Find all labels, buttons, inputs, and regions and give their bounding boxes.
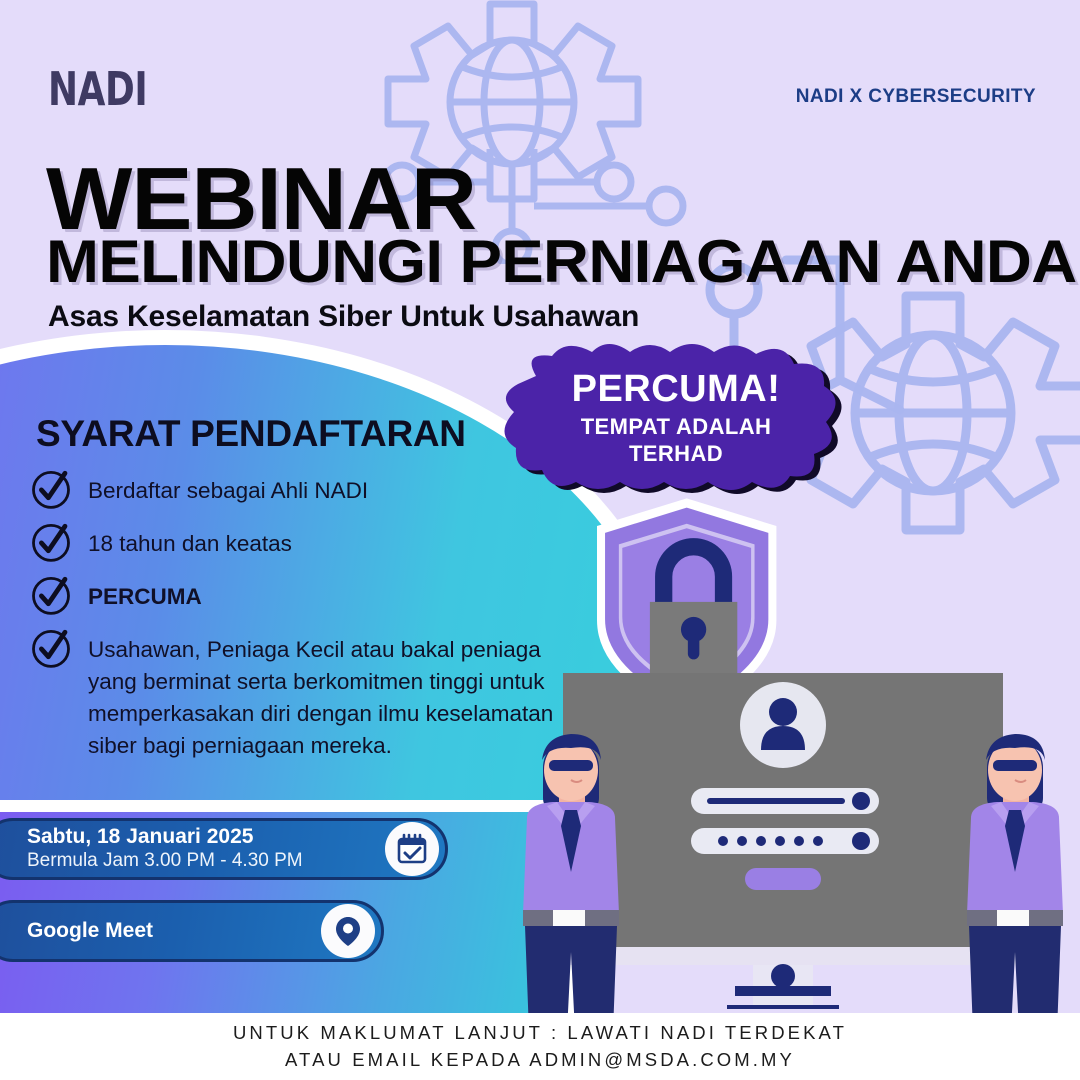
check-circle-icon <box>30 521 72 563</box>
event-date-label: Sabtu, 18 Januari 2025 <box>27 825 385 850</box>
event-time-label: Bermula Jam 3.00 PM - 4.30 PM <box>27 850 385 873</box>
footer-bar: UNTUK MAKLUMAT LANJUT : LAWATI NADI TERD… <box>0 1013 1080 1080</box>
calendar-icon <box>385 822 439 876</box>
poster-canvas: NADI NADI X CYBERSECURITY WEBINAR MELIND… <box>0 0 1080 1080</box>
page-subtitle: Asas Keselamatan Siber Untuk Usahawan <box>48 300 639 334</box>
list-item-label: Berdaftar sebagai Ahli NADI <box>88 470 368 507</box>
list-item: 18 tahun dan keatas <box>30 523 560 563</box>
brand-tagline: NADI X CYBERSECURITY <box>796 86 1036 108</box>
list-item-label: PERCUMA <box>88 576 202 613</box>
nadi-logo: NADI <box>48 62 147 116</box>
footer-line-2: ATAU EMAIL KEPADA ADMIN@MSDA.COM.MY <box>285 1047 795 1073</box>
check-circle-icon <box>30 574 72 616</box>
requirements-list: Berdaftar sebagai Ahli NADI 18 tahun dan… <box>30 470 560 775</box>
list-item-label: Usahawan, Peniaga Kecil atau bakal penia… <box>88 629 560 762</box>
badge-sub-line1: TEMPAT ADALAH <box>581 414 772 441</box>
list-item: Usahawan, Peniaga Kecil atau bakal penia… <box>30 629 560 762</box>
event-venue-pill[interactable]: Google Meet <box>0 900 384 962</box>
event-date-texts: Sabtu, 18 Januari 2025 Bermula Jam 3.00 … <box>0 825 385 873</box>
list-item: PERCUMA <box>30 576 560 616</box>
requirements-heading: SYARAT PENDAFTARAN <box>36 413 466 455</box>
page-title-secondary: MELINDUNGI PERNIAGAAN ANDA <box>46 232 1077 292</box>
list-item: Berdaftar sebagai Ahli NADI <box>30 470 560 510</box>
event-venue-label: Google Meet <box>27 919 321 944</box>
cybersecurity-illustration <box>505 480 1080 1015</box>
event-date-pill[interactable]: Sabtu, 18 Januari 2025 Bermula Jam 3.00 … <box>0 818 448 880</box>
footer-line-1: UNTUK MAKLUMAT LANJUT : LAWATI NADI TERD… <box>233 1020 847 1046</box>
list-item-label: 18 tahun dan keatas <box>88 523 292 560</box>
badge-text-group: PERCUMA! TEMPAT ADALAH TERHAD <box>500 344 852 494</box>
login-screen-monitor-icon <box>547 673 1019 1009</box>
badge-main-label: PERCUMA! <box>572 370 781 410</box>
status-badge: PERCUMA! TEMPAT ADALAH TERHAD <box>500 344 852 494</box>
badge-sub-label: TEMPAT ADALAH TERHAD <box>581 414 772 468</box>
event-venue-texts: Google Meet <box>0 919 321 944</box>
check-circle-icon <box>30 468 72 510</box>
check-circle-icon <box>30 627 72 669</box>
location-pin-icon <box>321 904 375 958</box>
badge-sub-line2: TERHAD <box>581 441 772 468</box>
